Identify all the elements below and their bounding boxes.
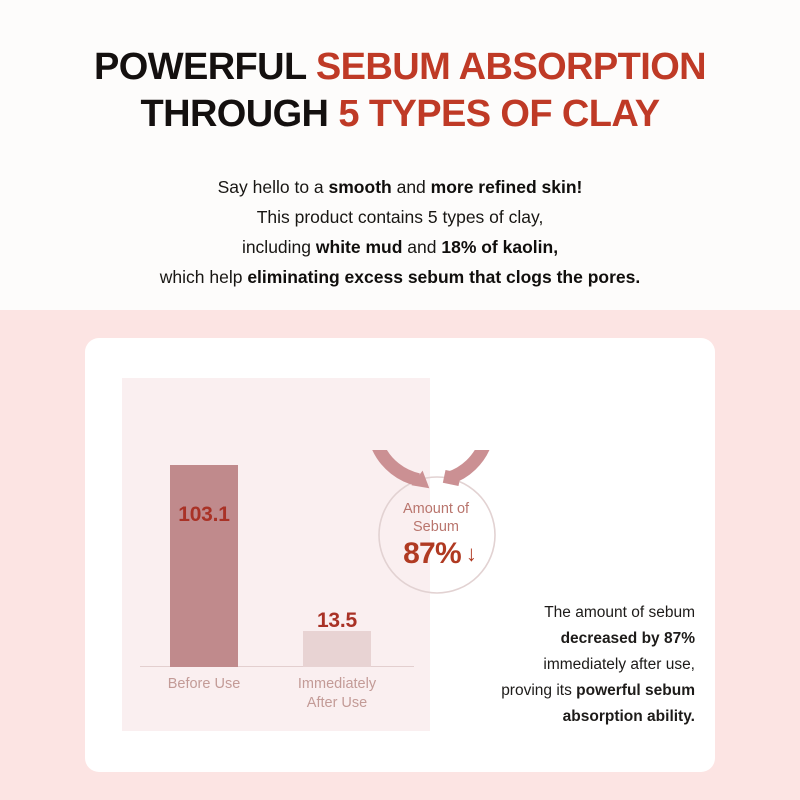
down-arrow-icon: ↓: [466, 543, 477, 565]
bar-value-before-use: 103.1: [154, 503, 254, 527]
headline-plain-1: POWERFUL: [94, 46, 316, 88]
subcopy-bold: more refined skin!: [431, 177, 583, 197]
result-blurb: The amount of sebum decreased by 87% imm…: [445, 600, 695, 730]
subcopy-text: Say hello to a: [218, 177, 329, 197]
page-title: POWERFUL SEBUM ABSORPTION THROUGH 5 TYPE…: [0, 44, 800, 138]
headline-line-1: POWERFUL SEBUM ABSORPTION: [0, 44, 800, 91]
blurb-text: proving its: [501, 682, 576, 699]
headline-accent-2: 5 TYPES OF CLAY: [338, 93, 659, 135]
subcopy-line-2: This product contains 5 types of clay,: [0, 202, 800, 232]
result-card: 103.1 13.5 Before Use Immediately After …: [85, 338, 715, 772]
bar-label-before-use: Before Use: [149, 675, 259, 694]
subcopy-text: and: [392, 177, 431, 197]
subcopy-line-3: including white mud and 18% of kaolin,: [0, 232, 800, 262]
bar-after-use: [303, 631, 371, 667]
subcopy-text: which help: [160, 267, 248, 287]
headline-plain-2: THROUGH: [141, 93, 339, 135]
subcopy-bold: eliminating excess sebum that clogs the …: [247, 267, 640, 287]
headline-accent-1: SEBUM ABSORPTION: [316, 46, 706, 88]
donut-figure-row: 87% ↓: [403, 537, 477, 571]
subcopy-bold: 18% of kaolin,: [441, 237, 558, 257]
hero-subcopy: Say hello to a smooth and more refined s…: [0, 172, 800, 292]
blurb-line-5: absorption ability.: [445, 704, 695, 730]
subcopy-line-4: which help eliminating excess sebum that…: [0, 262, 800, 292]
subcopy-bold: smooth: [329, 177, 392, 197]
blurb-bold: absorption ability.: [563, 708, 695, 725]
blurb-bold: decreased by 87%: [561, 630, 695, 647]
blurb-line-4: proving its powerful sebum: [445, 678, 695, 704]
donut-percent-value: 87%: [403, 537, 461, 571]
donut-caption: Amount of Sebum: [388, 500, 484, 536]
subcopy-bold: white mud: [316, 237, 403, 257]
blurb-line-2: decreased by 87%: [445, 626, 695, 652]
hero-section: POWERFUL SEBUM ABSORPTION THROUGH 5 TYPE…: [0, 0, 800, 310]
blurb-bold: powerful sebum: [576, 682, 695, 699]
blurb-line-3: immediately after use,: [445, 652, 695, 678]
bar-before-use: [170, 465, 238, 667]
donut-center-content: Amount of Sebum 87% ↓: [352, 450, 522, 620]
bar-label-after-use: Immediately After Use: [282, 675, 392, 713]
subcopy-text: including: [242, 237, 316, 257]
sebum-donut-gauge: Amount of Sebum 87% ↓: [352, 450, 522, 620]
headline-line-2: THROUGH 5 TYPES OF CLAY: [0, 91, 800, 138]
subcopy-line-1: Say hello to a smooth and more refined s…: [0, 172, 800, 202]
subcopy-text: and: [402, 237, 441, 257]
blurb-line-1: The amount of sebum: [445, 600, 695, 626]
